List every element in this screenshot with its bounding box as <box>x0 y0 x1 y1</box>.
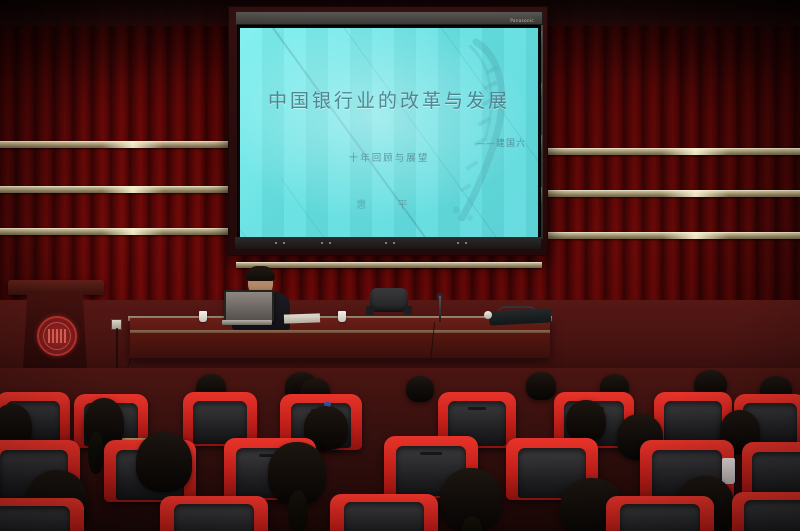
slide-subtitle: 十年回顾与展望 <box>240 150 538 164</box>
thermos-cup <box>722 458 735 484</box>
microphone-stand <box>439 296 441 322</box>
slide-subtitle-right: ——建国六 <box>476 136 526 149</box>
chair-backrest <box>370 288 408 312</box>
board-tray-dot <box>329 242 331 244</box>
head-table-trim <box>130 330 550 333</box>
bag-accessory <box>484 311 492 319</box>
laptop-keyboard-base <box>222 320 272 325</box>
chair-armrest-left <box>366 306 374 315</box>
audience-head <box>136 432 192 492</box>
audience-ponytail <box>88 432 104 474</box>
wall-accent-strip-left-2 <box>0 186 232 193</box>
podium-top-surface <box>8 280 104 295</box>
paper-cup-left <box>199 311 207 322</box>
board-tray-dot <box>275 242 277 244</box>
wall-accent-strip-right-1 <box>546 148 800 155</box>
auditorium-seat[interactable] <box>0 498 84 531</box>
laptop-screen-back <box>224 290 274 322</box>
audience-head <box>566 400 606 442</box>
seat-back-slot <box>468 407 487 410</box>
seat-cushion <box>174 504 254 531</box>
projection-screen-frame: 中国银行业的改革与发展 ——建国六 十年回顾与展望 惠 平 <box>237 25 541 241</box>
empty-office-chair <box>366 288 412 324</box>
board-brand-label: Panasonic <box>510 18 534 23</box>
board-bottom-tray <box>235 237 541 249</box>
auditorium-seat[interactable] <box>160 496 268 531</box>
slide-text-block: 中国银行业的改革与发展 ——建国六 十年回顾与展望 惠 平 <box>240 28 538 238</box>
slide-title: 中国银行业的改革与发展 <box>240 86 538 113</box>
lecture-hall-photo: Panasonic <box>0 0 800 531</box>
presentation-slide: 中国银行业的改革与发展 ——建国六 十年回顾与展望 惠 平 <box>240 28 538 238</box>
wall-accent-strip-left-3 <box>0 228 232 235</box>
auditorium-seat[interactable] <box>330 494 438 531</box>
board-tray-dot <box>465 242 467 244</box>
board-tray-dot <box>321 242 323 244</box>
seat-cushion <box>344 502 424 531</box>
audience-head <box>526 372 556 400</box>
presenter-laptop <box>222 290 272 322</box>
chair-armrest-right <box>404 306 412 315</box>
board-tray-dot <box>283 242 285 244</box>
wall-accent-strip-left-1 <box>0 141 232 148</box>
board-tray-dot <box>393 242 395 244</box>
wall-accent-strip-right-3 <box>546 232 800 239</box>
wall-accent-strip-right-2 <box>546 190 800 197</box>
board-top-rail: Panasonic <box>235 11 543 25</box>
projection-board-unit: Panasonic <box>228 6 548 256</box>
seat-back-slot <box>420 452 443 455</box>
slide-author-name: 惠 平 <box>240 196 538 211</box>
seat-cushion <box>620 504 700 531</box>
paper-cup-right <box>338 311 346 322</box>
documents-on-table <box>284 313 320 323</box>
auditorium-seat[interactable] <box>732 492 800 531</box>
audience-ponytail <box>288 490 308 531</box>
board-tray-dot <box>457 242 459 244</box>
presenter-hair <box>246 266 275 281</box>
head-table <box>130 318 550 358</box>
university-seal-emblem <box>37 316 77 356</box>
board-tray-dot <box>385 242 387 244</box>
seat-cushion <box>744 500 800 531</box>
audience-head <box>406 376 434 402</box>
seat-cushion <box>0 506 70 531</box>
seal-inscription <box>48 329 66 343</box>
auditorium-seat[interactable] <box>606 496 714 531</box>
